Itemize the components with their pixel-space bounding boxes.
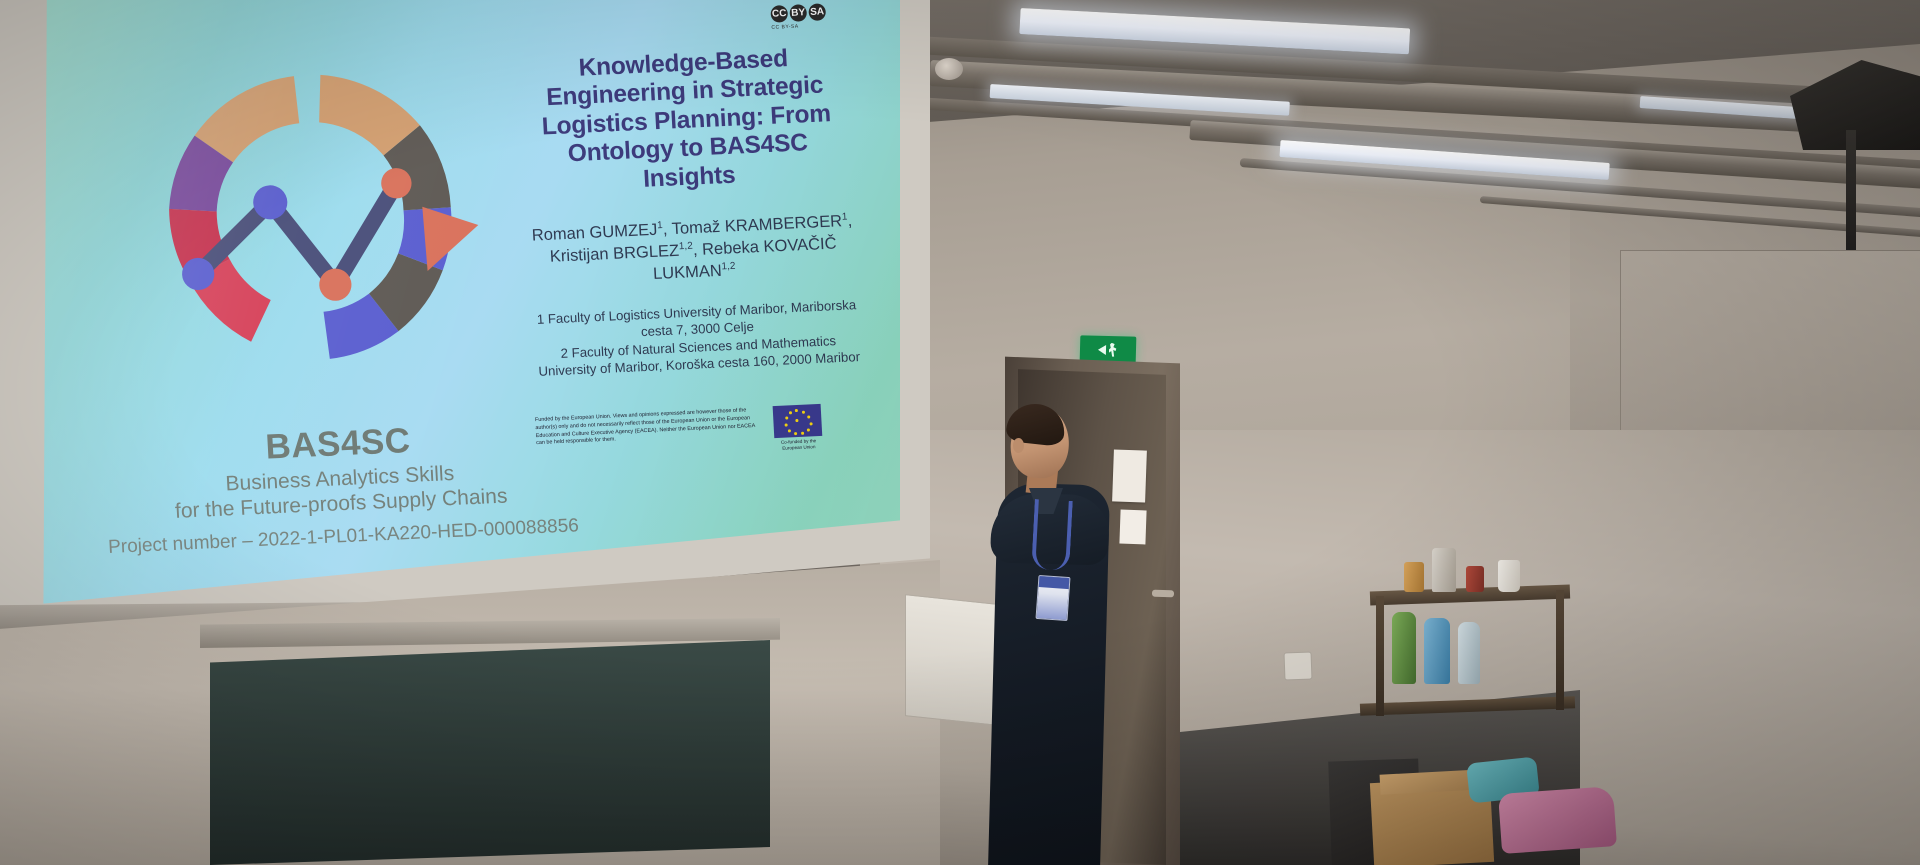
lanyard bbox=[1031, 499, 1073, 571]
projection-screen: BAS4SC Business Analytics Skills for the… bbox=[40, 0, 900, 610]
ceiling-speaker bbox=[935, 58, 963, 80]
presentation-slide: BAS4SC Business Analytics Skills for the… bbox=[40, 0, 900, 610]
affiliation-list: 1 Faculty of Logistics University of Mar… bbox=[531, 296, 864, 381]
cc-icon: CC bbox=[770, 5, 788, 23]
exit-arrow-icon bbox=[1097, 344, 1105, 354]
clear-bottle bbox=[1458, 622, 1480, 684]
shelf-leg bbox=[1556, 590, 1564, 710]
camera-pole bbox=[1846, 130, 1856, 250]
author-affil-marker: 1 bbox=[657, 220, 663, 231]
slide-title: Knowledge-Based Engineering in Strategic… bbox=[518, 42, 855, 199]
author-list: Roman GUMZEJ1, Tomaž KRAMBERGER1, Kristi… bbox=[527, 210, 860, 291]
door-notice-sheet bbox=[1119, 510, 1146, 545]
brand-block: BAS4SC Business Analytics Skills for the… bbox=[102, 415, 578, 559]
door-handle[interactable] bbox=[1152, 590, 1174, 598]
amber-jar bbox=[1404, 562, 1424, 592]
thermos bbox=[1432, 548, 1456, 592]
eu-funding-footer: Funded by the European Union. Views and … bbox=[535, 401, 877, 463]
badge-header-strip bbox=[1039, 576, 1070, 589]
blue-bottle bbox=[1424, 618, 1450, 684]
eu-flag-icon bbox=[773, 404, 823, 438]
author-affil-marker: 1 bbox=[842, 212, 848, 223]
author-name: Roman GUMZEJ bbox=[531, 221, 657, 245]
author-name: Kristijan BRGLEZ bbox=[549, 242, 679, 266]
bas4sc-logo bbox=[107, 34, 516, 412]
red-jar bbox=[1466, 566, 1484, 592]
eu-logo: Co-funded by the European Union bbox=[767, 404, 829, 453]
conference-room-photo: BAS4SC Business Analytics Skills for the… bbox=[0, 0, 1920, 865]
white-cup bbox=[1498, 560, 1520, 592]
green-bottle bbox=[1392, 612, 1416, 684]
chalkboard bbox=[210, 640, 770, 865]
running-person-icon bbox=[1108, 343, 1118, 357]
cc-by-icon: BY bbox=[789, 4, 807, 22]
cc-sa-icon: SA bbox=[808, 3, 826, 21]
presenter-ear bbox=[1013, 438, 1024, 453]
conference-badge bbox=[1036, 575, 1071, 621]
presenter bbox=[985, 408, 1120, 865]
creative-commons-badges: CC BY SA bbox=[770, 3, 826, 23]
wall-outlet bbox=[1284, 652, 1313, 681]
shelf-leg bbox=[1376, 596, 1384, 716]
pink-cloth bbox=[1498, 786, 1617, 854]
author-affil-marker: 1,2 bbox=[679, 241, 693, 253]
slide-text-column: Knowledge-Based Engineering in Strategic… bbox=[518, 42, 865, 380]
eu-disclaimer-text: Funded by the European Union. Views and … bbox=[535, 407, 758, 449]
author-affil-marker: 1,2 bbox=[721, 261, 735, 273]
cc-caption: CC BY-SA bbox=[771, 24, 798, 31]
